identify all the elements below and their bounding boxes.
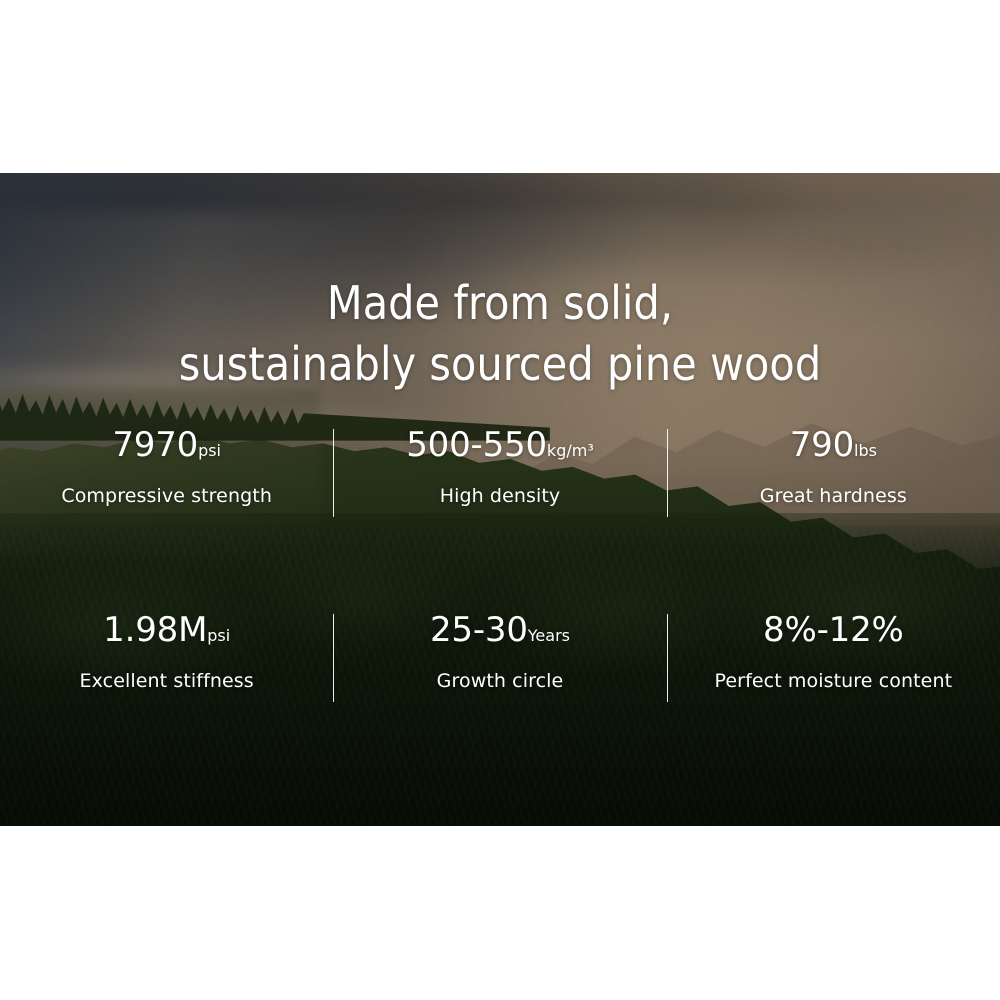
stat-label: Compressive strength <box>8 483 325 509</box>
stat-value: 8%-12% <box>675 608 992 658</box>
stat-growth-circle: 25-30Years Growth circle <box>333 608 666 694</box>
stat-number: 790 <box>790 425 854 465</box>
stat-label: Great hardness <box>675 483 992 509</box>
stat-unit: lbs <box>854 441 877 460</box>
stat-value: 500-550kg/m³ <box>341 423 658 473</box>
stat-number: 8%-12% <box>763 610 904 650</box>
stat-unit: psi <box>207 626 230 645</box>
stat-label: Growth circle <box>341 668 658 694</box>
hero-banner: Made from solid, sustainably sourced pin… <box>0 173 1000 826</box>
stat-number: 1.98M <box>103 610 207 650</box>
stat-number: 25-30 <box>430 610 528 650</box>
stats-row-1: 7970psi Compressive strength 500-550kg/m… <box>0 423 1000 509</box>
stats-row-2: 1.98Mpsi Excellent stiffness 25-30Years … <box>0 608 1000 694</box>
stat-unit: kg/m³ <box>547 441 594 460</box>
stat-compressive-strength: 7970psi Compressive strength <box>0 423 333 509</box>
stat-value: 7970psi <box>8 423 325 473</box>
stat-moisture-content: 8%-12% Perfect moisture content <box>667 608 1000 694</box>
stat-value: 1.98Mpsi <box>8 608 325 658</box>
stat-value: 790lbs <box>675 423 992 473</box>
page-canvas: Made from solid, sustainably sourced pin… <box>0 0 1000 1000</box>
stat-label: Perfect moisture content <box>675 668 992 694</box>
stat-great-hardness: 790lbs Great hardness <box>667 423 1000 509</box>
stat-row: 7970psi Compressive strength 500-550kg/m… <box>0 423 1000 509</box>
headline: Made from solid, sustainably sourced pin… <box>0 273 1000 395</box>
stat-unit: psi <box>198 441 221 460</box>
stat-row: 1.98Mpsi Excellent stiffness 25-30Years … <box>0 608 1000 694</box>
banner-content: Made from solid, sustainably sourced pin… <box>0 173 1000 826</box>
stat-high-density: 500-550kg/m³ High density <box>333 423 666 509</box>
stat-number: 500-550 <box>406 425 547 465</box>
stat-unit: Years <box>528 626 570 645</box>
stat-number: 7970 <box>112 425 198 465</box>
stat-excellent-stiffness: 1.98Mpsi Excellent stiffness <box>0 608 333 694</box>
stat-value: 25-30Years <box>341 608 658 658</box>
stat-label: Excellent stiffness <box>8 668 325 694</box>
stat-label: High density <box>341 483 658 509</box>
